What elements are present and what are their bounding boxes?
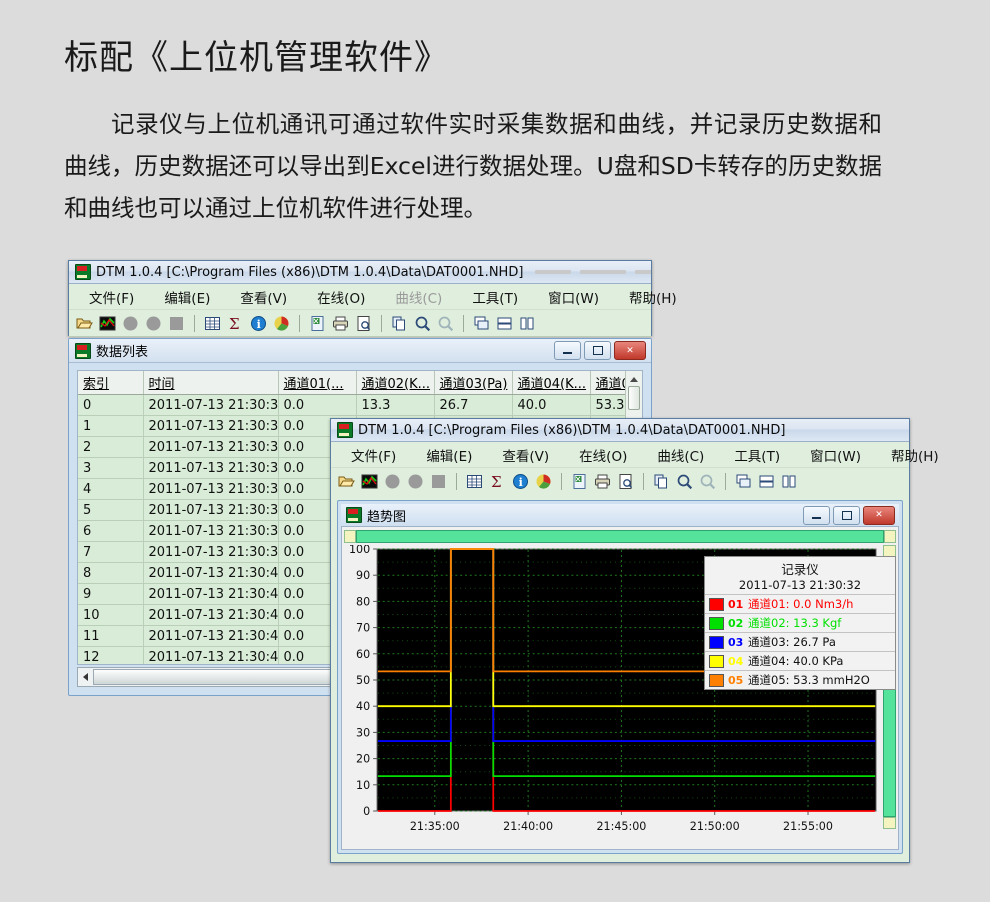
maximize-button[interactable] bbox=[833, 506, 860, 525]
svg-text:21:35:00: 21:35:00 bbox=[410, 820, 460, 833]
svg-text:90: 90 bbox=[356, 569, 370, 582]
print-icon[interactable] bbox=[593, 472, 612, 491]
table-icon[interactable] bbox=[465, 472, 484, 491]
menu-online[interactable]: 在线(O) bbox=[579, 445, 627, 465]
titlebar-ghost-text bbox=[535, 270, 651, 274]
legend-item[interactable]: 04通道04: 40.0 KPa bbox=[705, 651, 895, 670]
svg-text:i: i bbox=[257, 318, 261, 331]
legend-channel-text: 通道02: 13.3 Kgf bbox=[748, 615, 841, 631]
row-index: 9 bbox=[78, 584, 143, 605]
trend-chart[interactable]: 010203040506070809010021:35:0021:40:0021… bbox=[346, 545, 880, 845]
svg-text:50: 50 bbox=[356, 674, 370, 687]
svg-text:0: 0 bbox=[363, 805, 370, 818]
open-folder-icon[interactable] bbox=[75, 314, 94, 333]
datalist-titlebar[interactable]: 数据列表 ✕ bbox=[69, 339, 651, 363]
toolbar-separator bbox=[643, 473, 644, 490]
cascade-icon[interactable] bbox=[472, 314, 491, 333]
trend-body: 010203040506070809010021:35:0021:40:0021… bbox=[341, 526, 899, 850]
menu-tools[interactable]: 工具(T) bbox=[472, 287, 518, 307]
menu-window[interactable]: 窗口(W) bbox=[810, 445, 861, 465]
svg-text:100: 100 bbox=[349, 545, 370, 556]
svg-text:40: 40 bbox=[356, 700, 370, 713]
window-title: DTM 1.0.4 [C:\Program Files (x86)\DTM 1.… bbox=[358, 423, 785, 438]
app-icon bbox=[337, 422, 353, 438]
export-excel-icon[interactable] bbox=[308, 314, 327, 333]
toolbar-separator bbox=[381, 315, 382, 332]
row-time: 2011-07-13 21:30:44 bbox=[143, 647, 278, 666]
legend-item[interactable]: 03通道03: 26.7 Pa bbox=[705, 632, 895, 651]
col-ch01[interactable]: 通道01(... bbox=[278, 371, 356, 395]
row-time: 2011-07-13 21:30:40 bbox=[143, 563, 278, 584]
legend-channel-id: 05 bbox=[728, 674, 744, 687]
scroll-up-arrow-icon[interactable] bbox=[630, 377, 638, 382]
minimize-button[interactable] bbox=[803, 506, 830, 525]
app-window-datalist[interactable]: DTM 1.0.4 [C:\Program Files (x86)\DTM 1.… bbox=[68, 260, 652, 336]
copy-icon[interactable] bbox=[652, 472, 671, 491]
legend-channel-text: 通道05: 53.3 mmH2O bbox=[748, 672, 870, 688]
legend-channel-id: 03 bbox=[728, 636, 744, 649]
toolbar-separator bbox=[456, 473, 457, 490]
toolbar-separator bbox=[299, 315, 300, 332]
record-circle-icon bbox=[383, 472, 402, 491]
table-header-row: 索引 时间 通道01(... 通道02(K... 通道03(Pa) 通道04(K… bbox=[78, 371, 643, 395]
trend-title: 趋势图 bbox=[367, 506, 406, 525]
legend-channel-id: 01 bbox=[728, 598, 744, 611]
table-icon[interactable] bbox=[203, 314, 222, 333]
app-icon bbox=[75, 264, 91, 280]
window-controls[interactable]: ✕ bbox=[803, 506, 897, 525]
row-index: 2 bbox=[78, 437, 143, 458]
legend-color-swatch bbox=[709, 636, 724, 649]
svg-text:i: i bbox=[519, 476, 523, 489]
toolbar-separator bbox=[463, 315, 464, 332]
svg-text:Σ: Σ bbox=[229, 315, 240, 333]
legend-channel-id: 04 bbox=[728, 655, 744, 668]
menu-view[interactable]: 查看(V) bbox=[502, 445, 549, 465]
row-time: 2011-07-13 21:30:37 bbox=[143, 500, 278, 521]
row-time: 2011-07-13 21:30:42 bbox=[143, 605, 278, 626]
maximize-button[interactable] bbox=[584, 341, 611, 360]
row-index: 11 bbox=[78, 626, 143, 647]
export-excel-icon[interactable] bbox=[570, 472, 589, 491]
row-time: 2011-07-13 21:30:36 bbox=[143, 479, 278, 500]
menu-online[interactable]: 在线(O) bbox=[317, 287, 365, 307]
row-ch03: 26.7 bbox=[434, 395, 512, 416]
svg-text:30: 30 bbox=[356, 726, 370, 739]
row-index: 1 bbox=[78, 416, 143, 437]
svg-text:21:50:00: 21:50:00 bbox=[690, 820, 740, 833]
row-index: 8 bbox=[78, 563, 143, 584]
window-title: DTM 1.0.4 [C:\Program Files (x86)\DTM 1.… bbox=[96, 265, 523, 280]
svg-text:21:40:00: 21:40:00 bbox=[503, 820, 553, 833]
row-time: 2011-07-13 21:30:35 bbox=[143, 458, 278, 479]
menu-view[interactable]: 查看(V) bbox=[240, 287, 287, 307]
menu-file[interactable]: 文件(F) bbox=[89, 287, 134, 307]
toolbar[interactable]: Σ i bbox=[69, 310, 651, 337]
scroll-left-arrow-icon[interactable] bbox=[83, 673, 88, 681]
row-time: 2011-07-13 21:30:43 bbox=[143, 626, 278, 647]
toolbar[interactable]: Σ i bbox=[331, 468, 909, 495]
col-index[interactable]: 索引 bbox=[78, 371, 143, 395]
row-time: 2011-07-13 21:30:39 bbox=[143, 542, 278, 563]
row-index: 4 bbox=[78, 479, 143, 500]
hscroll-left-end[interactable] bbox=[344, 530, 356, 543]
row-index: 6 bbox=[78, 521, 143, 542]
legend-color-swatch bbox=[709, 674, 724, 687]
svg-text:Σ: Σ bbox=[491, 473, 502, 491]
legend-channel-text: 通道03: 26.7 Pa bbox=[748, 634, 836, 650]
window-controls[interactable]: ✕ bbox=[554, 341, 648, 360]
menu-edit[interactable]: 编辑(E) bbox=[426, 445, 472, 465]
menubar[interactable]: 文件(F) 编辑(E) 查看(V) 在线(O) 曲线(C) 工具(T) 窗口(W… bbox=[69, 284, 651, 310]
titlebar[interactable]: DTM 1.0.4 [C:\Program Files (x86)\DTM 1.… bbox=[331, 419, 909, 442]
legend-rows: 01通道01: 0.0 Nm3/h02通道02: 13.3 Kgf03通道03:… bbox=[705, 594, 895, 689]
toolbar-separator bbox=[194, 315, 195, 332]
legend-item[interactable]: 05通道05: 53.3 mmH2O bbox=[705, 670, 895, 689]
minimize-button[interactable] bbox=[554, 341, 581, 360]
legend-color-swatch bbox=[709, 617, 724, 630]
print-preview-icon[interactable] bbox=[354, 314, 373, 333]
row-time: 2011-07-13 21:30:38 bbox=[143, 521, 278, 542]
zoom-in-icon[interactable] bbox=[675, 472, 694, 491]
tile-vertical-icon[interactable] bbox=[518, 314, 537, 333]
row-index: 12 bbox=[78, 647, 143, 666]
chart-legend: 记录仪 2011-07-13 21:30:32 01通道01: 0.0 Nm3/… bbox=[704, 556, 896, 690]
col-ch04[interactable]: 通道04(K... bbox=[512, 371, 590, 395]
chart-curve-icon[interactable] bbox=[360, 472, 379, 491]
menu-help[interactable]: 帮助(H) bbox=[629, 287, 677, 307]
row-index: 7 bbox=[78, 542, 143, 563]
menu-tools[interactable]: 工具(T) bbox=[734, 445, 780, 465]
pie-chart-icon[interactable] bbox=[534, 472, 553, 491]
toolbar-separator bbox=[725, 473, 726, 490]
row-time: 2011-07-13 21:30:32 bbox=[143, 395, 278, 416]
svg-text:21:55:00: 21:55:00 bbox=[783, 820, 833, 833]
close-button[interactable]: ✕ bbox=[614, 341, 646, 360]
datalist-icon bbox=[75, 343, 91, 359]
info-icon[interactable]: i bbox=[511, 472, 530, 491]
zoom-out-icon bbox=[698, 472, 717, 491]
svg-text:80: 80 bbox=[356, 595, 370, 608]
zoom-out-icon bbox=[436, 314, 455, 333]
legend-channel-text: 通道04: 40.0 KPa bbox=[748, 653, 843, 669]
pie-chart-icon[interactable] bbox=[272, 314, 291, 333]
row-index: 10 bbox=[78, 605, 143, 626]
row-index: 0 bbox=[78, 395, 143, 416]
sigma-icon[interactable]: Σ bbox=[488, 472, 507, 491]
row-time: 2011-07-13 21:30:33 bbox=[143, 416, 278, 437]
menu-file[interactable]: 文件(F) bbox=[351, 445, 396, 465]
scroll-thumb[interactable] bbox=[628, 386, 640, 410]
copy-icon[interactable] bbox=[390, 314, 409, 333]
svg-text:21:45:00: 21:45:00 bbox=[596, 820, 646, 833]
row-ch04: 40.0 bbox=[512, 395, 590, 416]
chart-curve-icon[interactable] bbox=[98, 314, 117, 333]
menu-curve[interactable]: 曲线(C) bbox=[657, 445, 704, 465]
legend-channel-id: 02 bbox=[728, 617, 744, 630]
page-description: 记录仪与上位机通讯可通过软件实时采集数据和曲线，并记录历史数据和曲线，历史数据还… bbox=[64, 103, 882, 229]
legend-color-swatch bbox=[709, 655, 724, 668]
trend-icon bbox=[346, 507, 362, 523]
legend-color-swatch bbox=[709, 598, 724, 611]
hscroll-right-end[interactable] bbox=[884, 530, 896, 543]
pause-circle-icon bbox=[144, 314, 163, 333]
close-button[interactable]: ✕ bbox=[863, 506, 895, 525]
hscroll-thumb[interactable] bbox=[356, 530, 884, 543]
toolbar-separator bbox=[561, 473, 562, 490]
print-preview-icon[interactable] bbox=[616, 472, 635, 491]
col-ch02[interactable]: 通道02(K... bbox=[356, 371, 434, 395]
info-icon[interactable]: i bbox=[249, 314, 268, 333]
menu-help[interactable]: 帮助(H) bbox=[891, 445, 939, 465]
stop-square-icon bbox=[167, 314, 186, 333]
zoom-in-icon[interactable] bbox=[413, 314, 432, 333]
menubar[interactable]: 文件(F) 编辑(E) 查看(V) 在线(O) 曲线(C) 工具(T) 窗口(W… bbox=[331, 442, 909, 468]
titlebar[interactable]: DTM 1.0.4 [C:\Program Files (x86)\DTM 1.… bbox=[69, 261, 651, 284]
legend-title: 记录仪 bbox=[705, 557, 895, 578]
tile-horizontal-icon[interactable] bbox=[495, 314, 514, 333]
menu-edit[interactable]: 编辑(E) bbox=[164, 287, 210, 307]
svg-text:60: 60 bbox=[356, 648, 370, 661]
row-time: 2011-07-13 21:30:41 bbox=[143, 584, 278, 605]
trend-titlebar[interactable]: 趋势图 ✕ bbox=[341, 504, 899, 526]
legend-channel-text: 通道01: 0.0 Nm3/h bbox=[748, 596, 853, 612]
table-row[interactable]: 02011-07-13 21:30:320.013.326.740.053.3 bbox=[78, 395, 643, 416]
col-time[interactable]: 时间 bbox=[143, 371, 278, 395]
trend-window[interactable]: 趋势图 ✕ 010203040506070809010021:35:0021:4… bbox=[337, 500, 903, 854]
legend-item[interactable]: 01通道01: 0.0 Nm3/h bbox=[705, 594, 895, 613]
trend-horizontal-scrollbar[interactable] bbox=[344, 530, 896, 543]
legend-item[interactable]: 02通道02: 13.3 Kgf bbox=[705, 613, 895, 632]
tile-vertical-icon[interactable] bbox=[780, 472, 799, 491]
legend-subtitle: 2011-07-13 21:30:32 bbox=[705, 578, 895, 594]
svg-text:10: 10 bbox=[356, 779, 370, 792]
stop-square-icon bbox=[429, 472, 448, 491]
row-index: 5 bbox=[78, 500, 143, 521]
print-icon[interactable] bbox=[331, 314, 350, 333]
record-circle-icon bbox=[121, 314, 140, 333]
menu-curve[interactable]: 曲线(C) bbox=[395, 287, 442, 307]
tile-horizontal-icon[interactable] bbox=[757, 472, 776, 491]
row-ch02: 13.3 bbox=[356, 395, 434, 416]
vscroll-bottom-end[interactable] bbox=[883, 817, 896, 829]
row-time: 2011-07-13 21:30:34 bbox=[143, 437, 278, 458]
cascade-icon[interactable] bbox=[734, 472, 753, 491]
pause-circle-icon bbox=[406, 472, 425, 491]
row-ch01: 0.0 bbox=[278, 395, 356, 416]
page-title: 标配《上位机管理软件》 bbox=[64, 30, 449, 79]
open-folder-icon[interactable] bbox=[337, 472, 356, 491]
col-ch03[interactable]: 通道03(Pa) bbox=[434, 371, 512, 395]
svg-text:20: 20 bbox=[356, 752, 370, 765]
menu-window[interactable]: 窗口(W) bbox=[548, 287, 599, 307]
svg-text:70: 70 bbox=[356, 621, 370, 634]
sigma-icon[interactable]: Σ bbox=[226, 314, 245, 333]
datalist-title: 数据列表 bbox=[96, 341, 148, 360]
row-index: 3 bbox=[78, 458, 143, 479]
app-window-trend[interactable]: DTM 1.0.4 [C:\Program Files (x86)\DTM 1.… bbox=[330, 418, 910, 863]
